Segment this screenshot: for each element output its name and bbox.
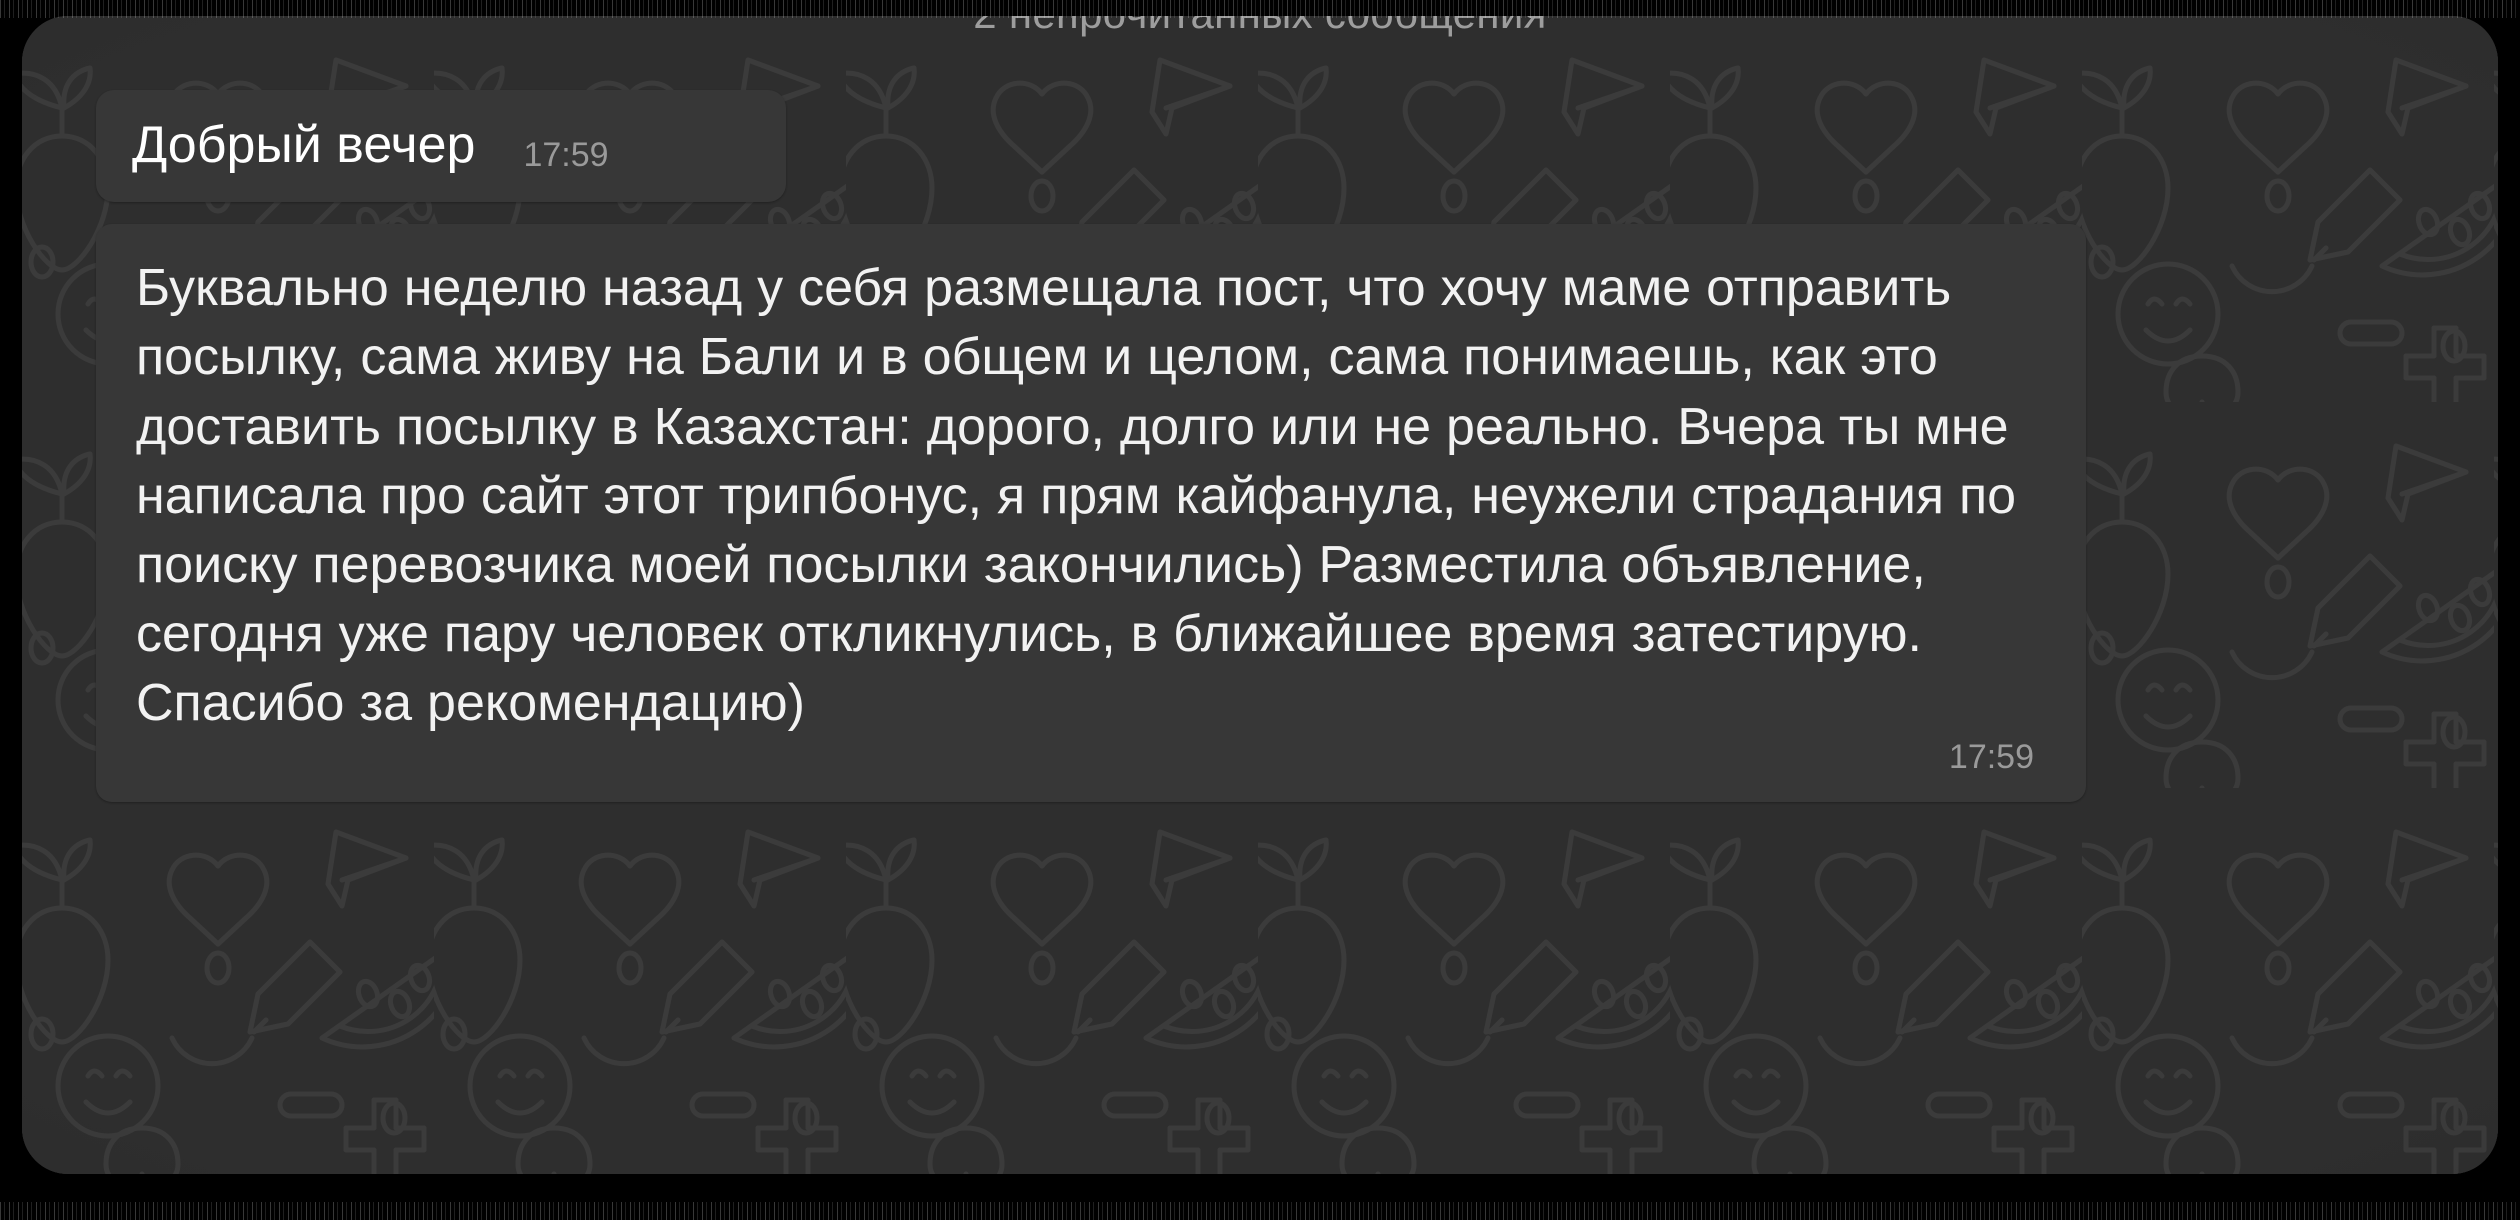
- message-timestamp: 17:59: [1949, 740, 2034, 776]
- message-row-incoming: Буквально неделю назад у себя размещала …: [22, 224, 2498, 802]
- message-bubble-incoming[interactable]: Добрый вечер 17:59: [96, 90, 786, 202]
- message-timestamp: 17:59: [523, 138, 608, 174]
- message-bubble-incoming[interactable]: Буквально неделю назад у себя размещала …: [96, 224, 2086, 802]
- message-meta: 17:59: [136, 740, 2034, 776]
- screenshot-edge-grain-bottom: [0, 1202, 2520, 1220]
- message-row-incoming: Добрый вечер 17:59: [22, 90, 2498, 224]
- message-list[interactable]: Добрый вечер 17:59 Буквально неделю наза…: [22, 16, 2498, 1174]
- unread-messages-divider: 2 непрочитанных сообщения: [22, 16, 2498, 38]
- message-text: Добрый вечер: [132, 116, 475, 174]
- chat-surface: 2 непрочитанных сообщения Добрый вечер 1…: [22, 16, 2498, 1174]
- message-text: Буквально неделю назад у себя размещала …: [136, 254, 2042, 738]
- screenshot-frame: 2 непрочитанных сообщения Добрый вечер 1…: [0, 0, 2520, 1220]
